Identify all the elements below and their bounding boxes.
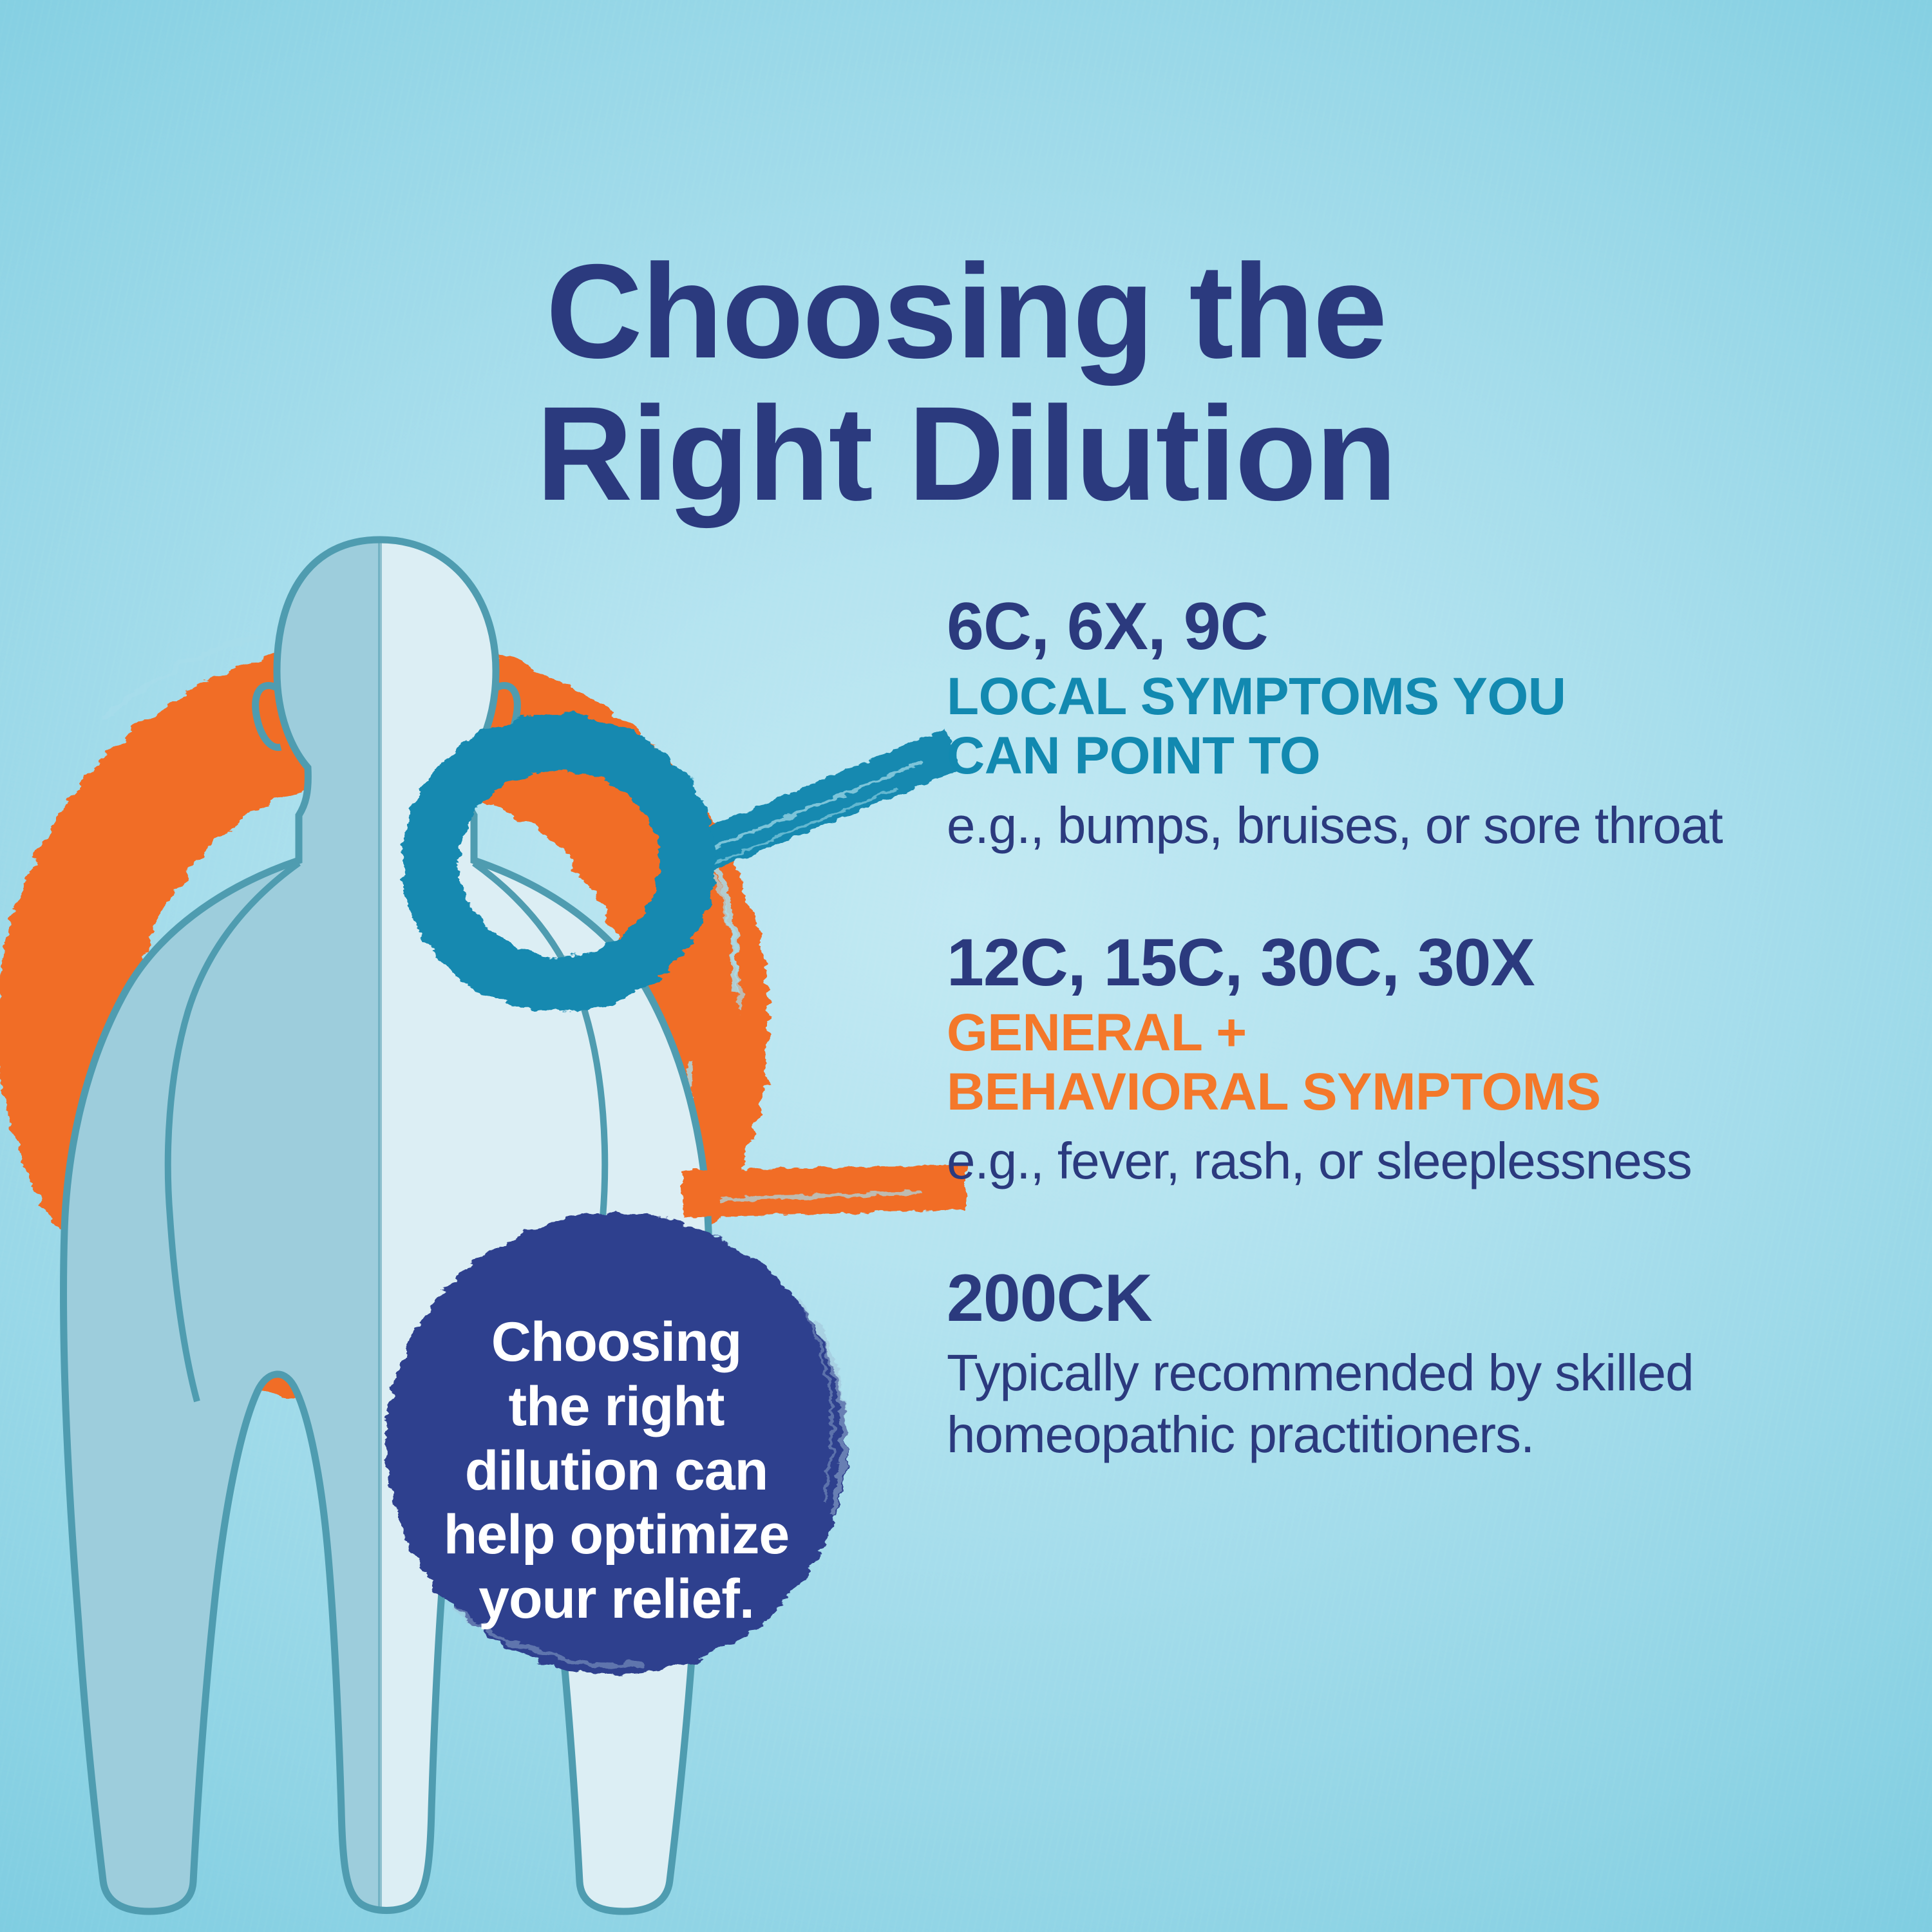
example-text-local: e.g., bumps, bruises, or sore throat bbox=[947, 795, 1868, 857]
example-text-general: e.g., fever, rash, or sleeplessness bbox=[947, 1130, 1868, 1192]
category-general-line-2: BEHAVIORAL SYMPTOMS bbox=[947, 1063, 1868, 1122]
category-local-line-2: CAN POINT TO bbox=[947, 726, 1868, 786]
example-general-line-1: e.g., fever, rash, or sleeplessness bbox=[947, 1130, 1868, 1192]
badge-line-4: help optimize bbox=[394, 1503, 838, 1567]
dilution-block-practitioner: 200CK Typically recommended by skilled h… bbox=[947, 1264, 1868, 1465]
badge-line-1: Choosing bbox=[394, 1311, 838, 1375]
illustration-area bbox=[0, 502, 966, 1932]
category-label-general: GENERAL + BEHAVIORAL SYMPTOMS bbox=[947, 1003, 1868, 1122]
dose-label-local: 6C, 6X, 9C bbox=[947, 592, 1868, 661]
category-local-line-1: LOCAL SYMPTOMS YOU bbox=[947, 667, 1868, 726]
page-title-line-1: Choosing the bbox=[0, 241, 1932, 383]
page-title: Choosing the Right Dilution bbox=[0, 241, 1932, 525]
example-practitioner-line-1: Typically recommended by skilled bbox=[947, 1342, 1868, 1404]
category-label-local: LOCAL SYMPTOMS YOU CAN POINT TO bbox=[947, 667, 1868, 786]
badge-line-5: your relief. bbox=[394, 1567, 838, 1632]
badge-line-3: dilution can bbox=[394, 1439, 838, 1504]
dose-label-general: 12C, 15C, 30C, 30X bbox=[947, 929, 1868, 997]
example-practitioner-line-2: homeopathic practitioners. bbox=[947, 1404, 1868, 1466]
category-general-line-1: GENERAL + bbox=[947, 1003, 1868, 1063]
dilution-block-general: 12C, 15C, 30C, 30X GENERAL + BEHAVIORAL … bbox=[947, 929, 1868, 1193]
example-local-line-1: e.g., bumps, bruises, or sore throat bbox=[947, 795, 1868, 857]
illustration-svg bbox=[0, 502, 966, 1932]
badge-callout-text: Choosing the right dilution can help opt… bbox=[394, 1311, 838, 1632]
dose-label-practitioner: 200CK bbox=[947, 1264, 1868, 1332]
dilution-block-local: 6C, 6X, 9C LOCAL SYMPTOMS YOU CAN POINT … bbox=[947, 592, 1868, 857]
orange-brush-line bbox=[681, 1164, 966, 1217]
example-text-practitioner: Typically recommended by skilled homeopa… bbox=[947, 1342, 1868, 1466]
dilution-list: 6C, 6X, 9C LOCAL SYMPTOMS YOU CAN POINT … bbox=[947, 592, 1868, 1466]
infographic-poster: Choosing the Right Dilution bbox=[0, 0, 1932, 1932]
badge-line-2: the right bbox=[394, 1375, 838, 1439]
